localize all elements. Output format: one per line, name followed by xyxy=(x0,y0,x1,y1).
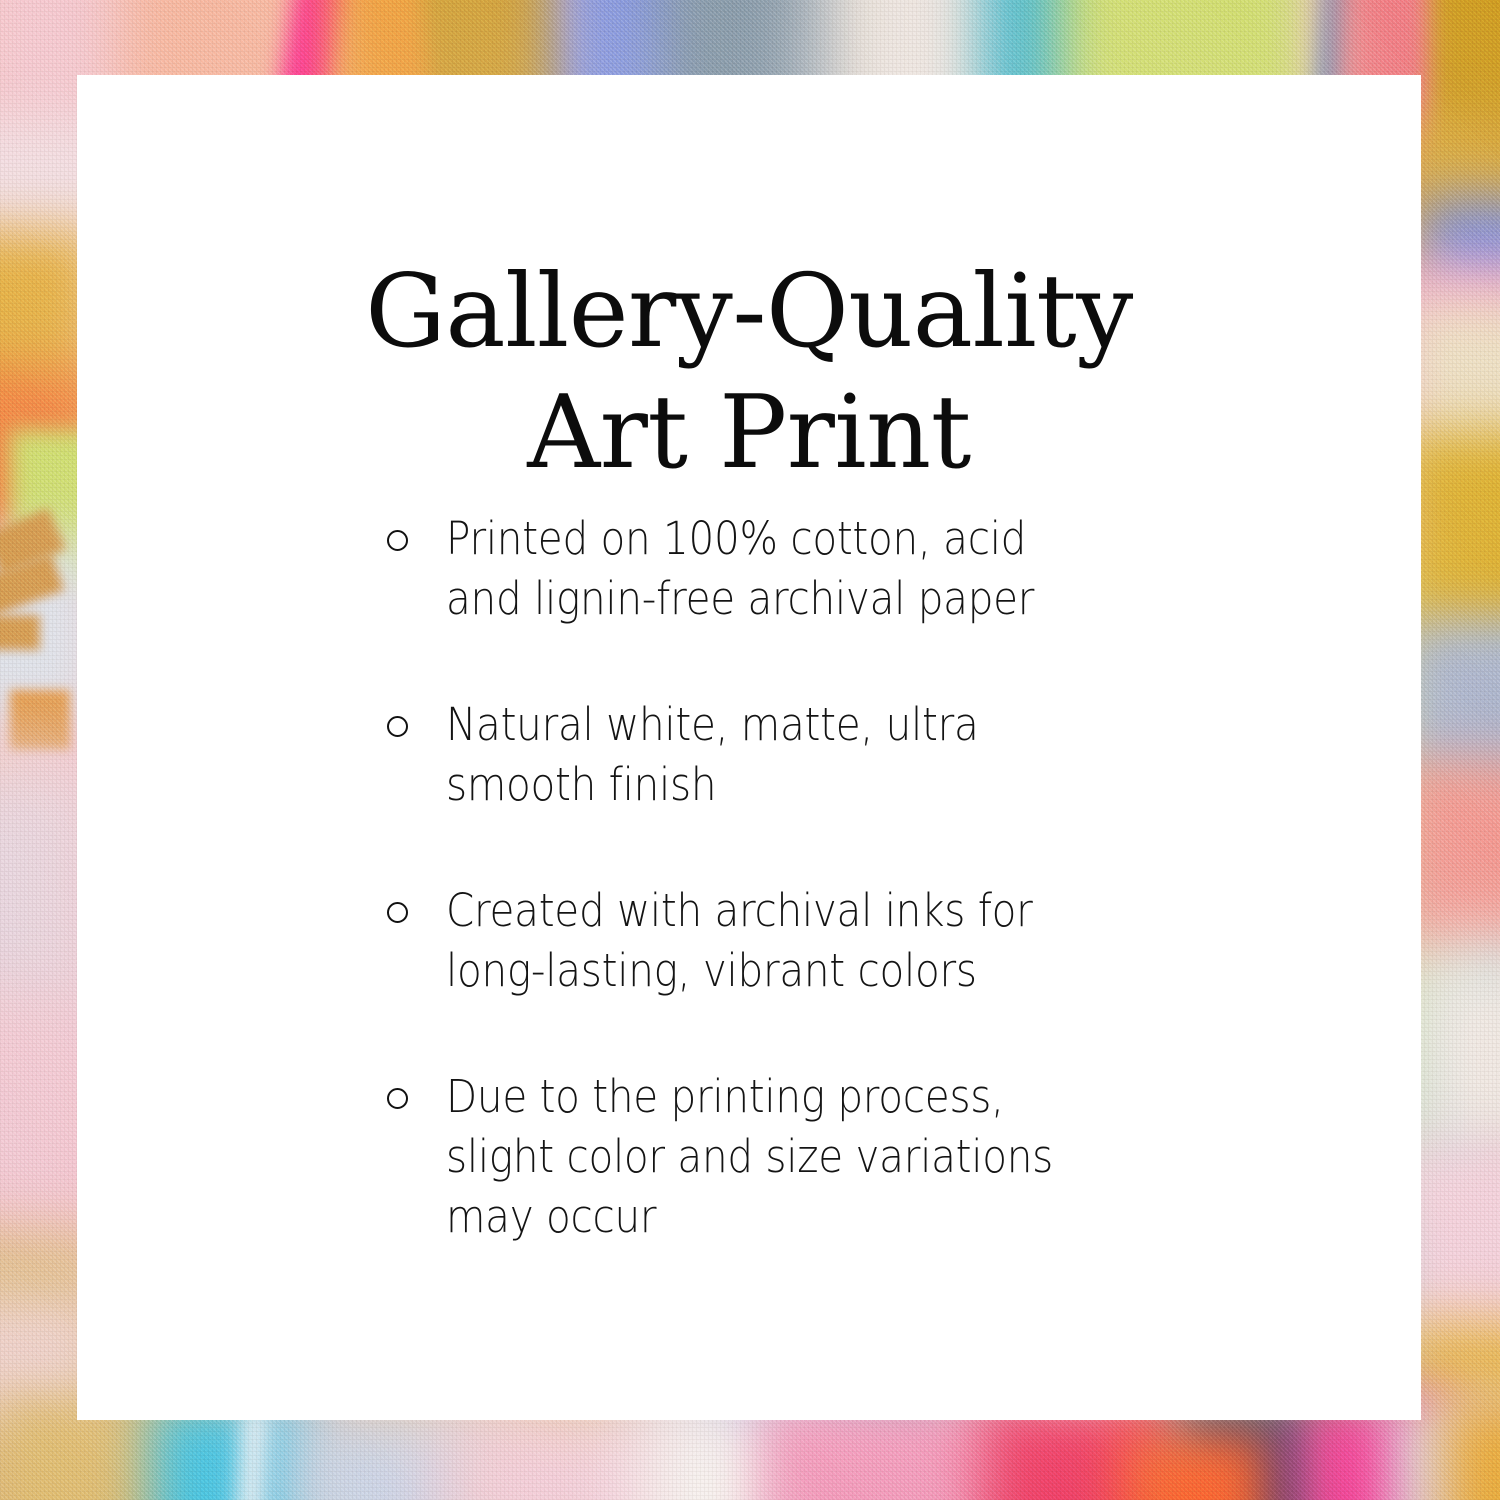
list-item: Natural white, matte, ultra smooth finis… xyxy=(387,695,1381,815)
feature-bullet-list: Printed on 100% cotton, acid and lignin-… xyxy=(387,509,1381,1247)
list-item-label: Printed on 100% cotton, acid and lignin-… xyxy=(446,509,1148,629)
page-title-line-2: Art Print xyxy=(77,372,1421,493)
hollow-circle-bullet-icon xyxy=(387,902,408,923)
list-item-label: Due to the printing process, slight colo… xyxy=(446,1067,1148,1247)
list-item-label: Created with archival inks for long-last… xyxy=(446,881,1148,1001)
hollow-circle-bullet-icon xyxy=(387,1088,408,1109)
art-print-listing-graphic: Gallery-Quality Art Print Printed on 100… xyxy=(0,0,1500,1500)
page-title: Gallery-Quality Art Print xyxy=(77,251,1421,493)
list-item: Printed on 100% cotton, acid and lignin-… xyxy=(387,509,1381,629)
hollow-circle-bullet-icon xyxy=(387,716,408,737)
page-title-line-1: Gallery-Quality xyxy=(77,251,1421,372)
list-item-label: Natural white, matte, ultra smooth finis… xyxy=(446,695,1148,815)
white-info-card: Gallery-Quality Art Print Printed on 100… xyxy=(77,75,1421,1420)
list-item: Due to the printing process, slight colo… xyxy=(387,1067,1381,1247)
list-item: Created with archival inks for long-last… xyxy=(387,881,1381,1001)
hollow-circle-bullet-icon xyxy=(387,530,408,551)
